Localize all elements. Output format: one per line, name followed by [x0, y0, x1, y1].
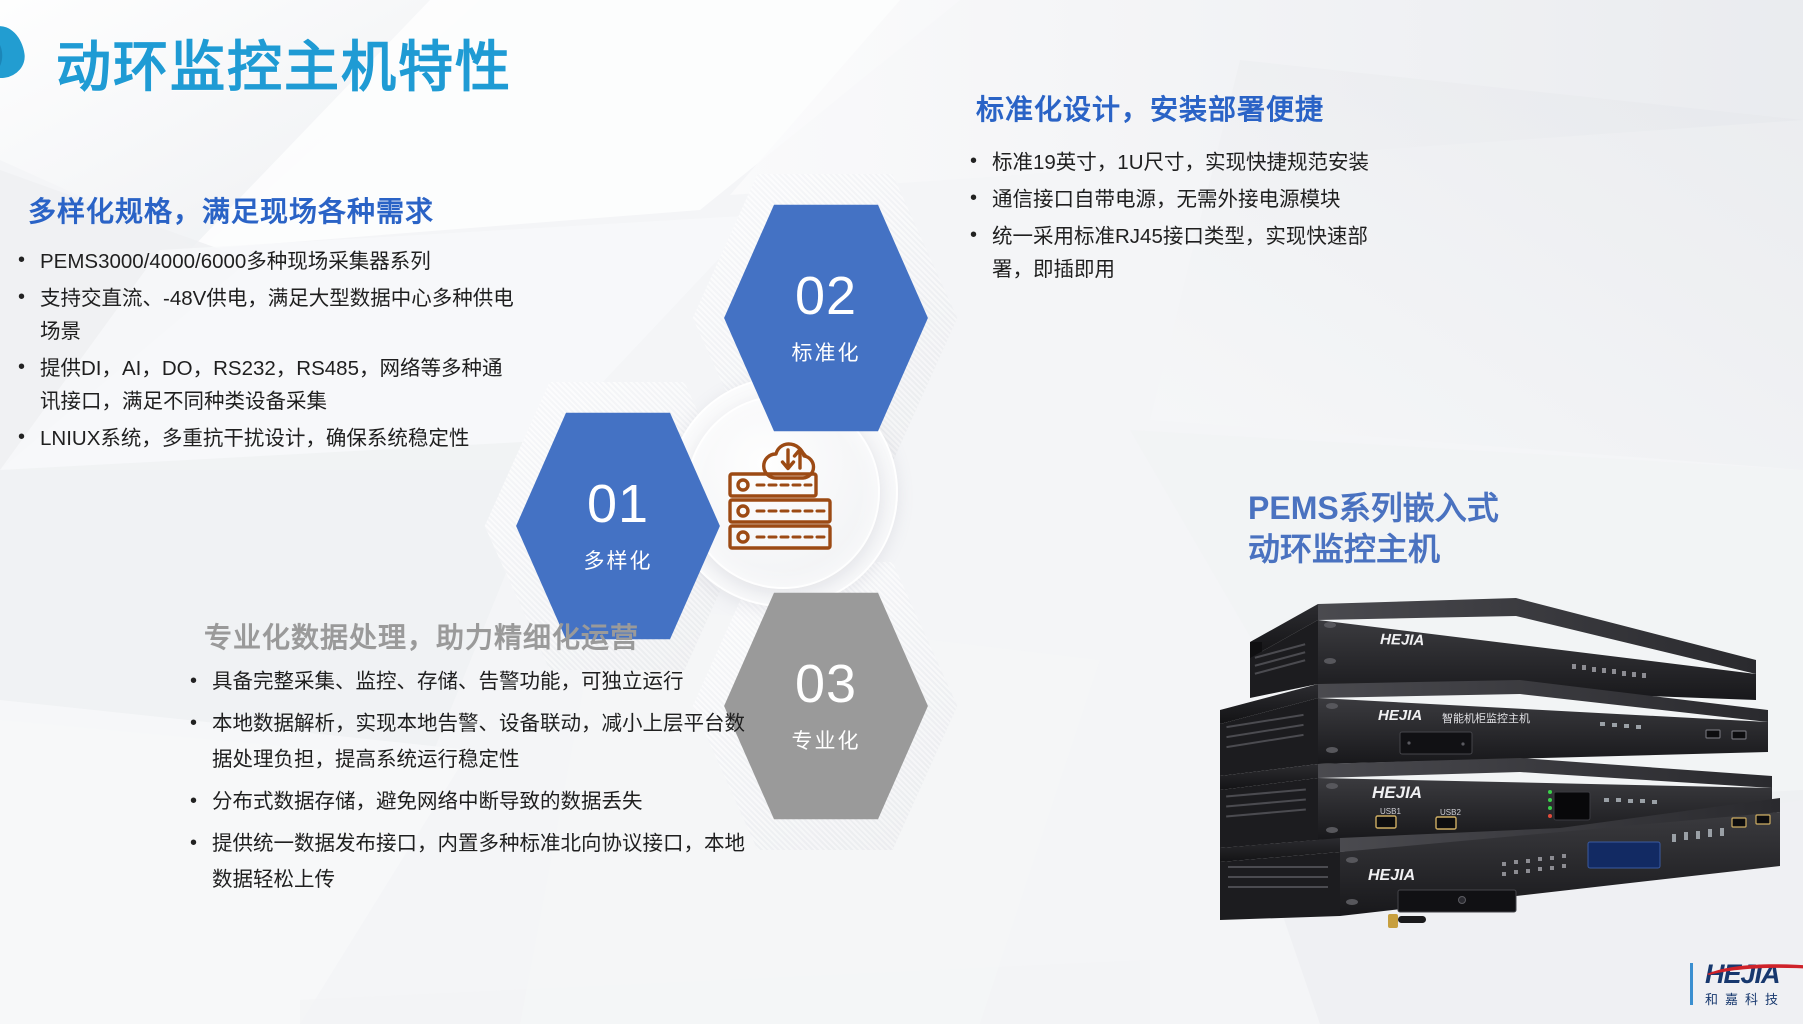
device-port-label-usb1: USB1	[1380, 807, 1401, 816]
hexagon-caption: 专业化	[792, 725, 861, 755]
hexagon-number: 03	[795, 657, 857, 711]
device-port-label-usb2: USB2	[1440, 808, 1461, 817]
list-item: 支持交直流、-48V供电，满足大型数据中心多种供电场景	[14, 282, 514, 348]
list-item: 分布式数据存储，避免网络中断导致的数据丢失	[186, 784, 746, 820]
section-heading-professional: 专业化数据处理，助力精细化运营	[204, 616, 639, 656]
list-item: 提供统一数据发布接口，内置多种标准北向协议接口，本地数据轻松上传	[186, 826, 746, 898]
list-item-text: LNIUX系统，多重抗干扰设计，确保系统稳定性	[40, 422, 514, 455]
list-item-text: 提供DI，AI，DO，RS232，RS485，网络等多种通讯接口，满足不同种类设…	[40, 352, 514, 418]
list-item: 具备完整采集、监控、存储、告警功能，可独立运行	[186, 664, 746, 700]
product-title: PEMS系列嵌入式 动环监控主机	[1248, 488, 1499, 570]
bullet-list-diversity: PEMS3000/4000/6000多种现场采集器系列 支持交直流、-48V供电…	[14, 245, 514, 459]
list-item-text: 具备完整采集、监控、存储、告警功能，可独立运行	[212, 664, 746, 700]
bullet-list-standard: 标准19英寸，1U尺寸，实现快捷规范安装 通信接口自带电源，无需外接电源模块 统…	[966, 146, 1406, 290]
list-item-text: 分布式数据存储，避免网络中断导致的数据丢失	[212, 784, 746, 820]
section-heading-diversity: 多样化规格，满足现场各种需求	[28, 190, 434, 230]
hexagon-caption: 多样化	[584, 545, 653, 575]
bullet-list-professional: 具备完整采集、监控、存储、告警功能，可独立运行 本地数据解析，实现本地告警、设备…	[186, 664, 746, 904]
page-title: 动环监控主机特性	[56, 22, 512, 102]
list-item-text: 通信接口自带电源，无需外接电源模块	[992, 183, 1406, 216]
svg-text:HEJIA: HEJIA	[1378, 707, 1422, 724]
section-heading-standard: 标准化设计，安装部署便捷	[976, 88, 1324, 128]
brand-logo: HEJIA 和嘉科技	[1690, 961, 1785, 1006]
list-item-text: 统一采用标准RJ45接口类型，实现快速部署，即插即用	[992, 220, 1406, 286]
logo-text-cn: 和嘉科技	[1705, 993, 1785, 1006]
list-item-text: 支持交直流、-48V供电，满足大型数据中心多种供电场景	[40, 282, 514, 348]
svg-text:HEJIA: HEJIA	[1372, 783, 1422, 802]
svg-text:HEJIA: HEJIA	[1368, 867, 1415, 884]
hexagon-caption: 标准化	[792, 337, 861, 367]
device-label: 智能机柜监控主机	[1442, 711, 1530, 725]
logo-divider-bar	[1690, 963, 1693, 1005]
list-item: 提供DI，AI，DO，RS232，RS485，网络等多种通讯接口，满足不同种类设…	[14, 352, 514, 418]
list-item: 统一采用标准RJ45接口类型，实现快速部署，即插即用	[966, 220, 1406, 286]
server-cloud-sync-icon	[720, 422, 846, 550]
hexagon-number: 02	[795, 269, 857, 323]
list-item: 通信接口自带电源，无需外接电源模块	[966, 183, 1406, 216]
list-item-text: 标准19英寸，1U尺寸，实现快捷规范安装	[992, 146, 1406, 179]
device-antenna	[1388, 914, 1426, 928]
list-item-text: 本地数据解析，实现本地告警、设备联动，减小上层平台数据处理负担，提高系统运行稳定…	[212, 706, 746, 778]
product-title-line1: PEMS系列嵌入式	[1248, 488, 1499, 529]
svg-text:HEJIA: HEJIA	[1380, 631, 1425, 649]
list-item: LNIUX系统，多重抗干扰设计，确保系统稳定性	[14, 422, 514, 455]
product-title-line2: 动环监控主机	[1248, 529, 1499, 570]
product-device-stack-image: HEJIA HEJIA 智能机柜监控主机	[1220, 580, 1803, 930]
list-item-text: PEMS3000/4000/6000多种现场采集器系列	[40, 245, 514, 278]
list-item: 本地数据解析，实现本地告警、设备联动，减小上层平台数据处理负担，提高系统运行稳定…	[186, 706, 746, 778]
logo-swoosh-icon	[1705, 963, 1803, 975]
list-item: 标准19英寸，1U尺寸，实现快捷规范安装	[966, 146, 1406, 179]
hexagon-number: 01	[587, 477, 649, 531]
list-item: PEMS3000/4000/6000多种现场采集器系列	[14, 245, 514, 278]
list-item-text: 提供统一数据发布接口，内置多种标准北向协议接口，本地数据轻松上传	[212, 826, 746, 898]
